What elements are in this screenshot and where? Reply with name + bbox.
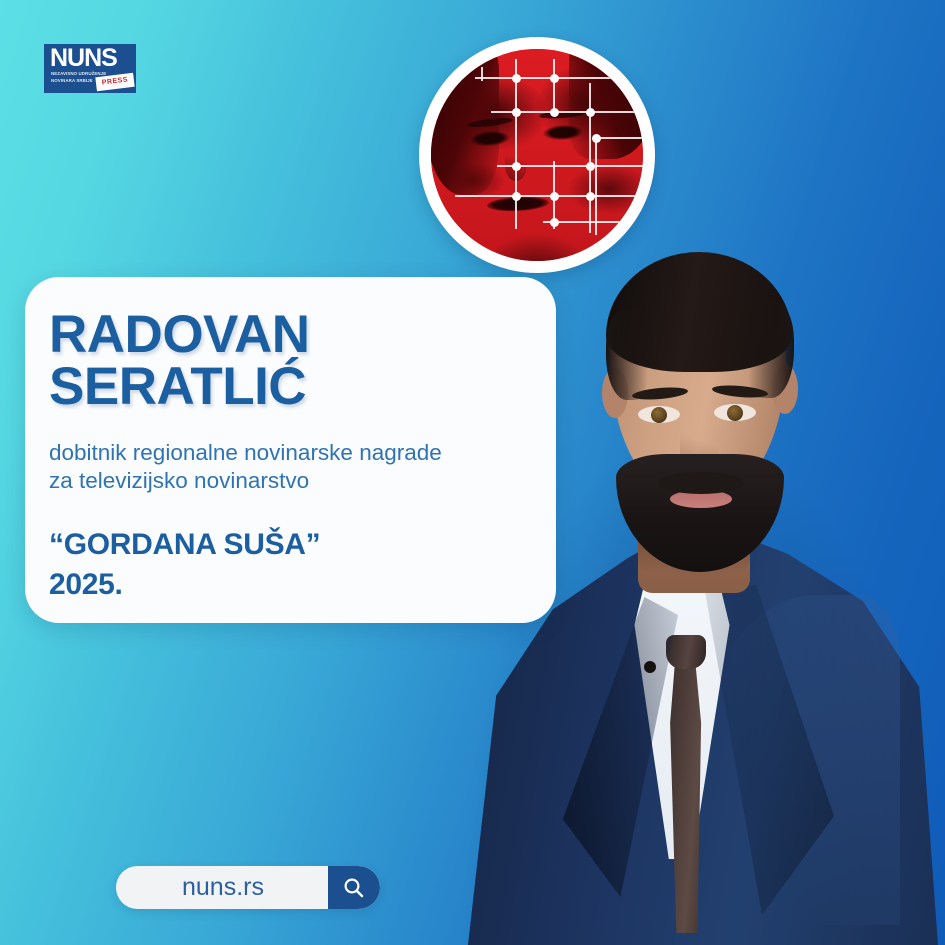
iris-left [651, 407, 667, 423]
search-button[interactable] [328, 866, 380, 909]
lapel-pin-icon [644, 661, 656, 673]
hair-fade-right [748, 302, 794, 398]
nuns-logo-wordmark: NUNS [50, 45, 117, 71]
grid-dot-3 [512, 108, 521, 117]
award-name-line1: “GORDANA SUŠA” [49, 525, 516, 565]
eye-left [638, 406, 680, 423]
grid-line-h1 [475, 77, 643, 79]
iris-right [727, 405, 743, 421]
search-icon [342, 876, 366, 900]
grid-dot-2 [550, 74, 559, 83]
grid-dot-11 [586, 192, 595, 201]
award-description-line1: dobitnik regionalne novinarske nagrade [49, 439, 516, 467]
laureate-name-line2: SERATLIĆ [49, 361, 516, 413]
grid-dot-9 [512, 192, 521, 201]
website-search-bar[interactable]: nuns.rs [116, 866, 380, 909]
grid-dot-5 [586, 108, 595, 117]
grid-dot-1 [512, 74, 521, 83]
grid-line-h3 [595, 137, 643, 139]
grid-dot-4 [550, 108, 559, 117]
nuns-logo[interactable]: NUNS NEZAVISNO UDRUŽENJE NOVINARA SRBIJE… [44, 44, 136, 93]
poster-canvas: NUNS NEZAVISNO UDRUŽENJE NOVINARA SRBIJE… [0, 0, 945, 945]
laureate-info-card: RADOVAN SERATLIĆ dobitnik regionalne nov… [25, 277, 556, 623]
grid-line-v2 [515, 59, 517, 229]
grid-line-v1 [481, 67, 483, 81]
award-description-line2: za televizijsko novinarstvo [49, 467, 516, 495]
grid-dot-8 [586, 162, 595, 171]
award-description: dobitnik regionalne novinarske nagrade z… [49, 439, 516, 495]
hair-fade-left [606, 310, 648, 400]
laureate-name-line1: RADOVAN [49, 309, 516, 361]
press-badge-label: PRESS [98, 76, 133, 88]
page-title: RADOVAN SERATLIĆ [49, 309, 516, 413]
grid-dot-10 [550, 192, 559, 201]
portrait-hair-right [569, 49, 643, 159]
grid-dot-7 [512, 162, 521, 171]
award-year: 2025. [49, 565, 516, 605]
grid-line-v5 [589, 83, 591, 233]
moustache [658, 472, 744, 494]
search-input[interactable]: nuns.rs [116, 866, 330, 909]
eye-right [714, 404, 756, 421]
grid-dot-6 [592, 134, 601, 143]
award-name: “GORDANA SUŠA” 2025. [49, 525, 516, 605]
grid-line-v3 [553, 59, 555, 115]
